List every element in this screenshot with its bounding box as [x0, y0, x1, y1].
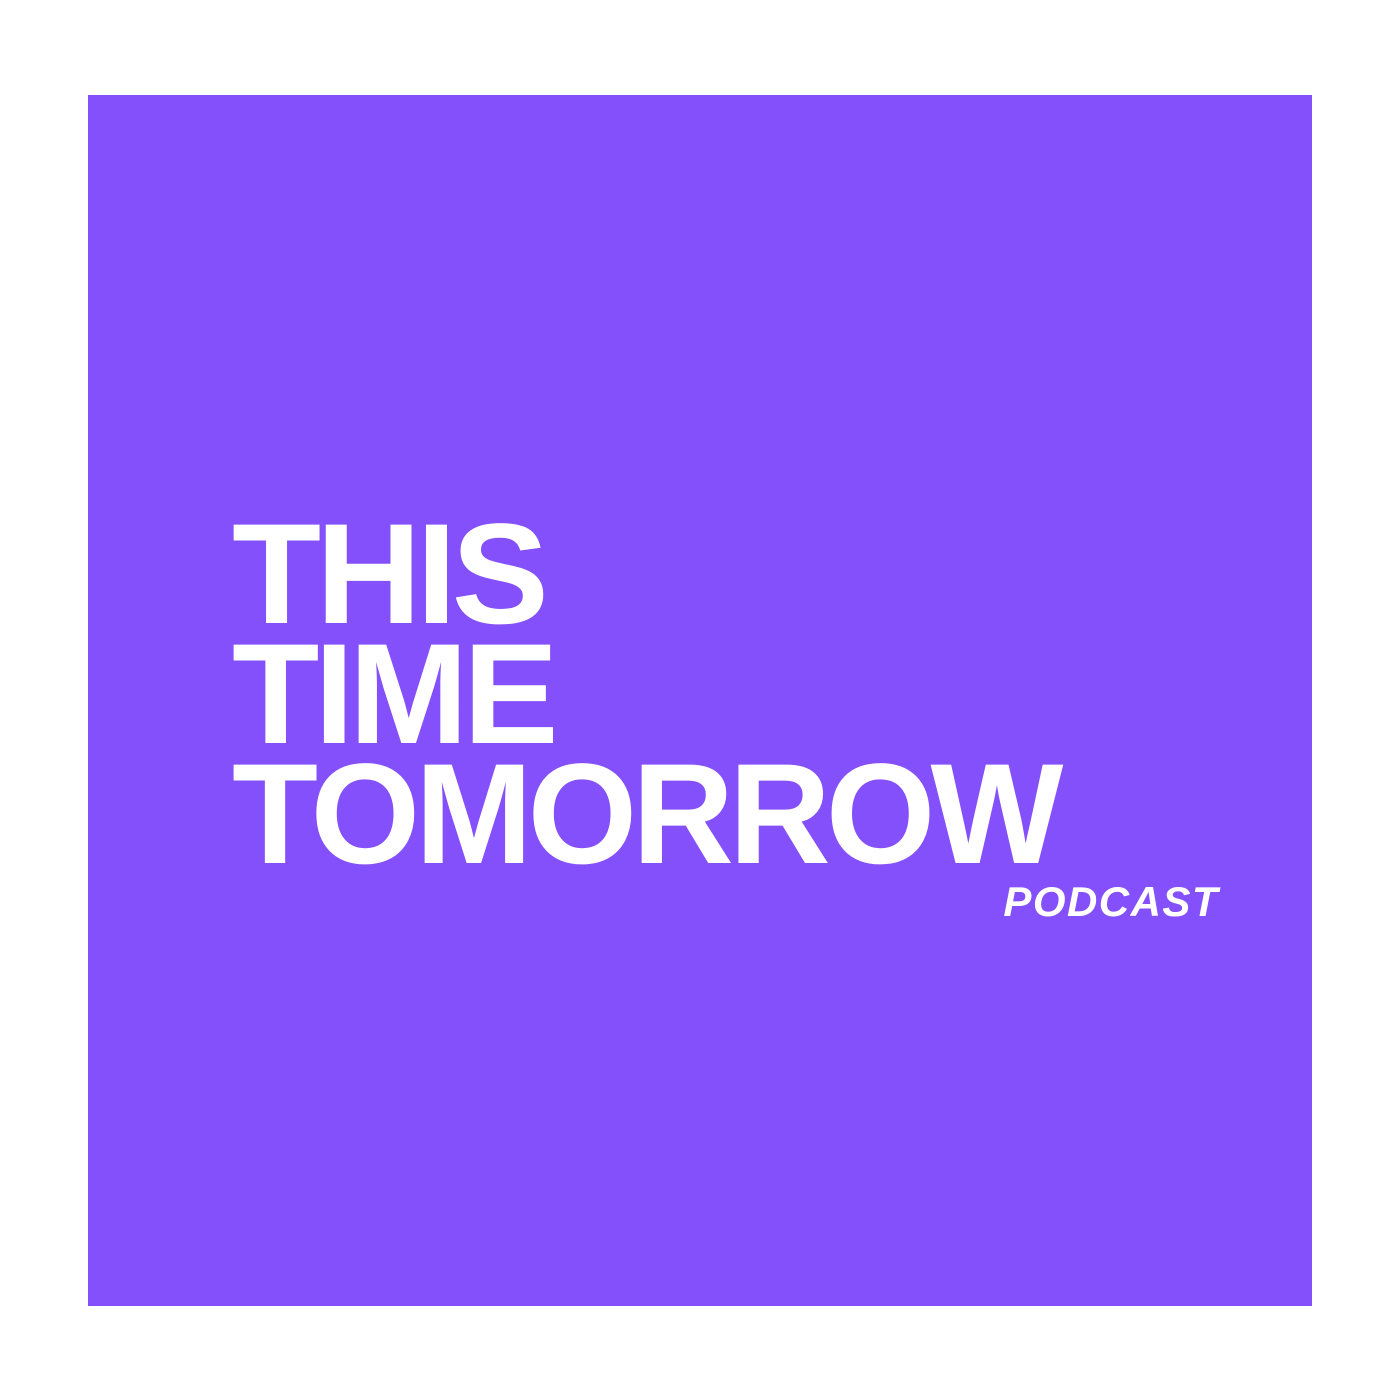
podcast-cover-artwork: THIS TIME TOMORROW PODCAST: [0, 0, 1400, 1400]
title-line-3: TOMORROW: [232, 755, 1217, 875]
cover-art-tile: THIS TIME TOMORROW PODCAST: [88, 95, 1312, 1306]
wordmark-title-block: THIS TIME TOMORROW: [232, 515, 1232, 875]
podcast-label: PODCAST: [1003, 881, 1219, 923]
kicker-row: PODCAST: [232, 881, 1219, 923]
